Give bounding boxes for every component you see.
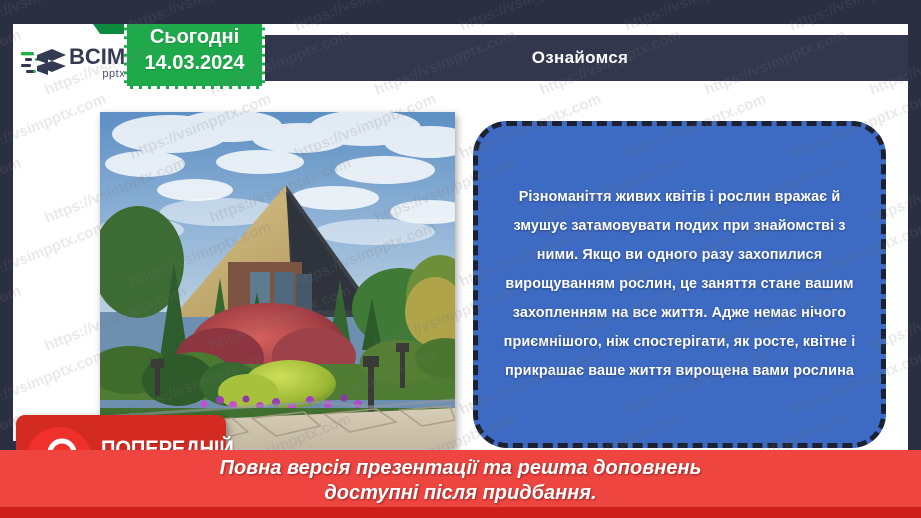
graduation-cap-icon: [21, 46, 67, 80]
slide-header-bar: Ознайомся: [252, 35, 908, 81]
brand-logo-wordmark: BCIM pptx: [69, 46, 125, 80]
purchase-notice-text: Повна версія презентації та решта доповн…: [220, 456, 702, 506]
date-badge: Сьогодні 14.03.2024: [124, 24, 265, 89]
date-badge-label: Сьогодні: [150, 25, 239, 50]
content-text-panel: Різноманіття живих квітів і рослин вража…: [473, 121, 886, 448]
brand-logo-title: BCIM: [69, 46, 125, 68]
purchase-notice-line1: Повна версія презентації та решта доповн…: [220, 456, 702, 481]
brand-logo-subtitle: pptx: [69, 69, 125, 80]
purchase-notice-banner: Повна версія презентації та решта доповн…: [0, 450, 921, 518]
banner-bottom-strip: [0, 507, 921, 518]
date-badge-value: 14.03.2024: [144, 50, 244, 77]
slide-viewer: BCIM pptx Ознайомся Сьогодні 14.03.2024: [0, 0, 921, 518]
content-body-text: Різноманіття живих квітів і рослин вража…: [492, 183, 867, 387]
purchase-notice-line2: доступні після придбання.: [220, 481, 702, 506]
page-title: Ознайомся: [532, 48, 628, 68]
brand-logo[interactable]: BCIM pptx: [13, 34, 135, 91]
garden-house-photo: [100, 112, 455, 449]
